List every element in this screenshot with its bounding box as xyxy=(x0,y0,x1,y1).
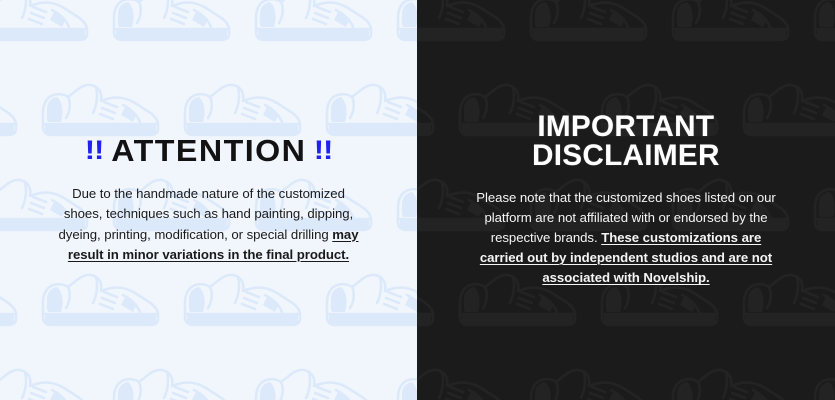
disclaimer-body: Please note that the customized shoes li… xyxy=(473,188,779,288)
attention-panel: !! ATTENTION !! Due to the handmade natu… xyxy=(0,0,417,400)
exclamation-icon-left: !! xyxy=(84,137,102,164)
attention-heading-label: ATTENTION xyxy=(111,135,306,166)
attention-heading: !! ATTENTION !! xyxy=(86,135,332,166)
disclaimer-panel-content: IMPORTANT DISCLAIMER Please note that th… xyxy=(417,0,835,400)
disclaimer-panel: IMPORTANT DISCLAIMER Please note that th… xyxy=(417,0,835,400)
attention-body: Due to the handmade nature of the custom… xyxy=(54,184,363,264)
disclaimer-heading: IMPORTANT DISCLAIMER xyxy=(532,112,720,171)
disclaimer-banner: !! ATTENTION !! Due to the handmade natu… xyxy=(0,0,835,400)
attention-panel-content: !! ATTENTION !! Due to the handmade natu… xyxy=(0,0,417,400)
disclaimer-heading-line-2: DISCLAIMER xyxy=(532,141,720,171)
disclaimer-heading-line-1: IMPORTANT xyxy=(532,112,720,142)
attention-body-text: Due to the handmade nature of the custom… xyxy=(59,186,354,241)
exclamation-icon-right: !! xyxy=(314,137,332,164)
